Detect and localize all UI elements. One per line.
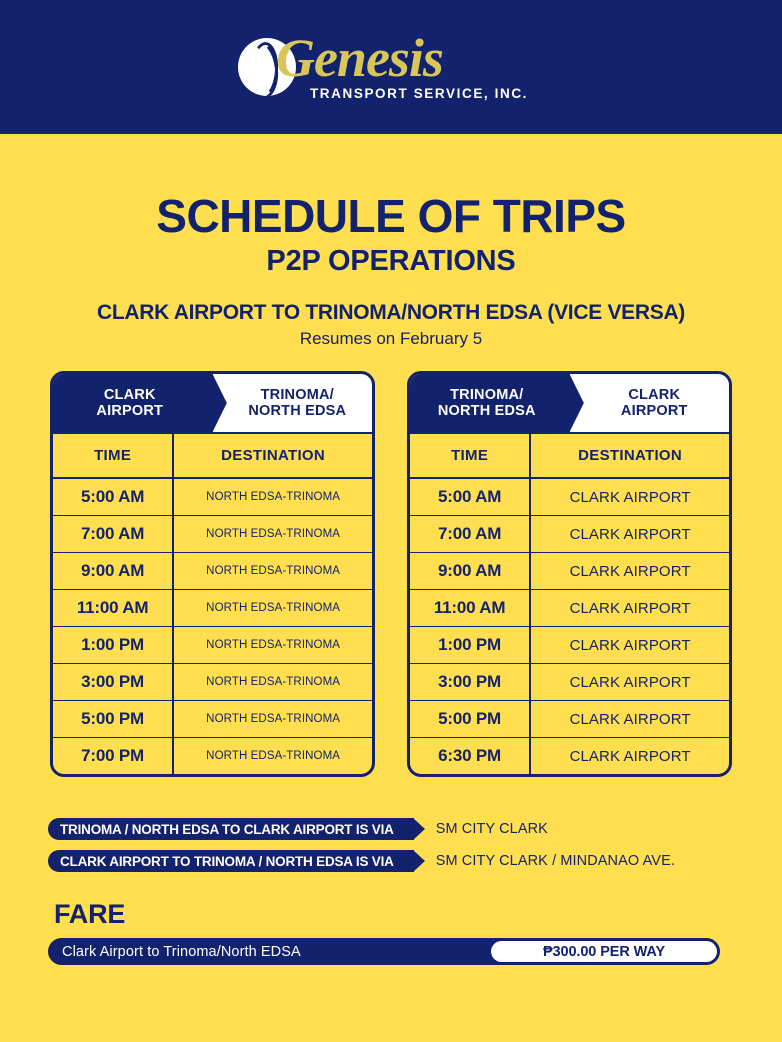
- brand-tagline: TRANSPORT SERVICE, INC.: [310, 86, 528, 101]
- schedule-table-clark-to-trinoma: CLARK AIRPORT TRINOMA/ NORTH EDSA TIME D…: [50, 371, 375, 777]
- cell-destination: NORTH EDSA-TRINOMA: [174, 590, 372, 626]
- table-header-banner: TRINOMA/ NORTH EDSA CLARK AIRPORT: [410, 374, 729, 432]
- cell-destination: NORTH EDSA-TRINOMA: [174, 479, 372, 515]
- cell-time: 7:00 PM: [53, 738, 174, 774]
- page-subtitle: P2P OPERATIONS: [0, 247, 782, 276]
- destination-line-1: TRINOMA/: [261, 387, 334, 403]
- cell-destination: NORTH EDSA-TRINOMA: [174, 627, 372, 663]
- table-row: 7:00 PM NORTH EDSA-TRINOMA: [53, 738, 372, 774]
- origin-line-2: NORTH EDSA: [438, 403, 536, 419]
- fare-bar: Clark Airport to Trinoma/North EDSA ₱300…: [48, 938, 720, 965]
- table-row: 7:00 AM NORTH EDSA-TRINOMA: [53, 516, 372, 553]
- via-label: TRINOMA / NORTH EDSA TO CLARK AIRPORT IS…: [48, 818, 414, 840]
- table-row: 6:30 PM CLARK AIRPORT: [410, 738, 729, 774]
- cell-time: 5:00 AM: [53, 479, 174, 515]
- route-title: CLARK AIRPORT TO TRINOMA/NORTH EDSA (VIC…: [0, 302, 782, 323]
- column-header-destination: DESTINATION: [531, 434, 729, 477]
- cell-destination: CLARK AIRPORT: [531, 479, 729, 515]
- cell-time: 9:00 AM: [410, 553, 531, 589]
- cell-destination: CLARK AIRPORT: [531, 590, 729, 626]
- genesis-logo: Genesis TRANSPORT SERVICE, INC.: [238, 28, 528, 106]
- brand-header: Genesis TRANSPORT SERVICE, INC.: [0, 0, 782, 134]
- logo-text-block: Genesis TRANSPORT SERVICE, INC.: [276, 33, 528, 100]
- column-header-row: TIME DESTINATION: [410, 432, 729, 479]
- cell-time: 3:00 PM: [53, 664, 174, 700]
- via-value: SM CITY CLARK: [436, 821, 548, 837]
- column-header-destination: DESTINATION: [174, 434, 372, 477]
- cell-time: 11:00 AM: [410, 590, 531, 626]
- via-row: TRINOMA / NORTH EDSA TO CLARK AIRPORT IS…: [48, 818, 748, 840]
- table-row: 5:00 AM NORTH EDSA-TRINOMA: [53, 479, 372, 516]
- destination-label: CLARK AIRPORT: [570, 374, 730, 432]
- table-row: 3:00 PM CLARK AIRPORT: [410, 664, 729, 701]
- table-row: 3:00 PM NORTH EDSA-TRINOMA: [53, 664, 372, 701]
- cell-destination: CLARK AIRPORT: [531, 627, 729, 663]
- via-value: SM CITY CLARK / MINDANAO AVE.: [436, 853, 675, 869]
- schedule-tables: CLARK AIRPORT TRINOMA/ NORTH EDSA TIME D…: [0, 371, 782, 777]
- cell-destination: CLARK AIRPORT: [531, 664, 729, 700]
- via-routes: TRINOMA / NORTH EDSA TO CLARK AIRPORT IS…: [48, 818, 748, 882]
- cell-time: 7:00 AM: [53, 516, 174, 552]
- resume-note: Resumes on February 5: [0, 330, 782, 347]
- cell-time: 6:30 PM: [410, 738, 531, 774]
- cell-destination: NORTH EDSA-TRINOMA: [174, 701, 372, 737]
- origin-label: CLARK AIRPORT: [53, 374, 213, 432]
- fare-route-label: Clark Airport to Trinoma/North EDSA: [62, 944, 301, 960]
- cell-destination: NORTH EDSA-TRINOMA: [174, 738, 372, 774]
- origin-line-2: AIRPORT: [96, 403, 163, 419]
- destination-line-2: AIRPORT: [621, 403, 688, 419]
- origin-label: TRINOMA/ NORTH EDSA: [410, 374, 570, 432]
- column-header-time: TIME: [410, 434, 531, 477]
- cell-time: 9:00 AM: [53, 553, 174, 589]
- cell-time: 5:00 PM: [410, 701, 531, 737]
- cell-destination: CLARK AIRPORT: [531, 516, 729, 552]
- fare-heading: FARE: [54, 899, 125, 930]
- schedule-table-trinoma-to-clark: TRINOMA/ NORTH EDSA CLARK AIRPORT TIME D…: [407, 371, 732, 777]
- page-title: SCHEDULE OF TRIPS: [0, 193, 782, 239]
- origin-line-1: TRINOMA/: [450, 387, 523, 403]
- column-header-row: TIME DESTINATION: [53, 432, 372, 479]
- cell-destination: NORTH EDSA-TRINOMA: [174, 664, 372, 700]
- cell-time: 1:00 PM: [53, 627, 174, 663]
- table-row: 7:00 AM CLARK AIRPORT: [410, 516, 729, 553]
- table-row: 9:00 AM CLARK AIRPORT: [410, 553, 729, 590]
- cell-destination: CLARK AIRPORT: [531, 553, 729, 589]
- origin-line-1: CLARK: [104, 387, 156, 403]
- cell-destination: NORTH EDSA-TRINOMA: [174, 516, 372, 552]
- cell-time: 1:00 PM: [410, 627, 531, 663]
- table-row: 11:00 AM NORTH EDSA-TRINOMA: [53, 590, 372, 627]
- table-row: 5:00 AM CLARK AIRPORT: [410, 479, 729, 516]
- destination-label: TRINOMA/ NORTH EDSA: [213, 374, 373, 432]
- cell-destination: CLARK AIRPORT: [531, 701, 729, 737]
- cell-time: 7:00 AM: [410, 516, 531, 552]
- table-row: 1:00 PM CLARK AIRPORT: [410, 627, 729, 664]
- column-header-time: TIME: [53, 434, 174, 477]
- table-header-banner: CLARK AIRPORT TRINOMA/ NORTH EDSA: [53, 374, 372, 432]
- cell-time: 5:00 PM: [53, 701, 174, 737]
- brand-name: Genesis: [276, 33, 443, 84]
- destination-line-1: CLARK: [628, 387, 680, 403]
- table-row: 5:00 PM NORTH EDSA-TRINOMA: [53, 701, 372, 738]
- cell-destination: NORTH EDSA-TRINOMA: [174, 553, 372, 589]
- cell-time: 5:00 AM: [410, 479, 531, 515]
- via-label: CLARK AIRPORT TO TRINOMA / NORTH EDSA IS…: [48, 850, 414, 872]
- table-row: 9:00 AM NORTH EDSA-TRINOMA: [53, 553, 372, 590]
- poster-page: Genesis TRANSPORT SERVICE, INC. SCHEDULE…: [0, 0, 782, 1042]
- fare-amount-badge: ₱300.00 PER WAY: [491, 941, 717, 962]
- destination-line-2: NORTH EDSA: [248, 403, 346, 419]
- cell-time: 3:00 PM: [410, 664, 531, 700]
- table-row: 5:00 PM CLARK AIRPORT: [410, 701, 729, 738]
- cell-destination: CLARK AIRPORT: [531, 738, 729, 774]
- cell-time: 11:00 AM: [53, 590, 174, 626]
- via-row: CLARK AIRPORT TO TRINOMA / NORTH EDSA IS…: [48, 850, 748, 872]
- table-row: 11:00 AM CLARK AIRPORT: [410, 590, 729, 627]
- table-row: 1:00 PM NORTH EDSA-TRINOMA: [53, 627, 372, 664]
